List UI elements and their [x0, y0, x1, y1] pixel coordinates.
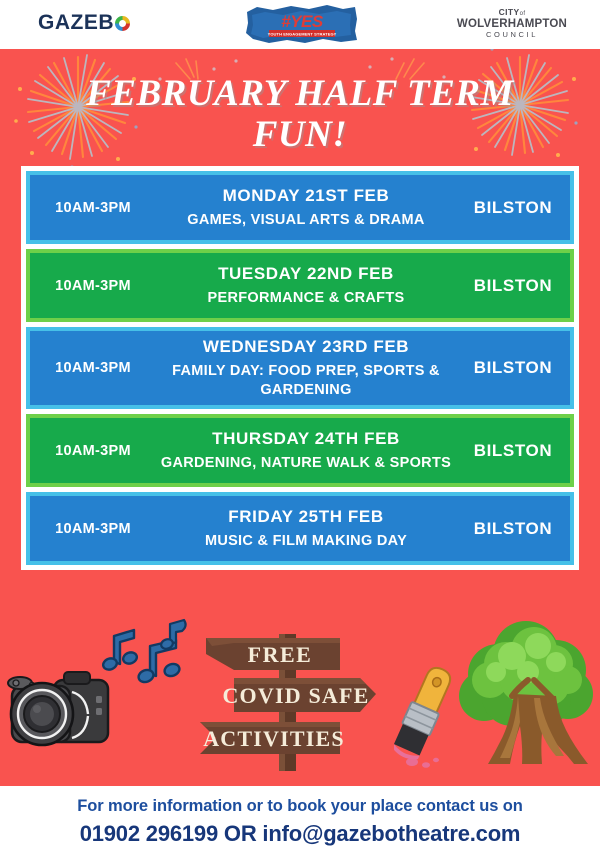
row-desc: MUSIC & FILM MAKING DAY: [156, 532, 456, 551]
sign-activities: ACTIVITIES: [200, 722, 345, 754]
row-venue: BILSTON: [460, 519, 566, 539]
signpost-icon: FREE COVID SAFE ACTIVITIES: [190, 626, 390, 771]
row-details: THURSDAY 24TH FEB GARDENING, NATURE WALK…: [152, 429, 460, 473]
row-time: 10AM-3PM: [34, 521, 152, 537]
row-day: FRIDAY 25TH FEB: [156, 507, 456, 527]
row-time: 10AM-3PM: [34, 360, 152, 376]
yes-logo-icon: #YES YOUTH ENGAGEMENT STRATEGY: [243, 3, 361, 45]
gazebo-logo-text: GAZEB: [38, 11, 114, 35]
svg-text:COVID SAFE: COVID SAFE: [222, 683, 369, 708]
table-row[interactable]: 10AM-3PM TUESDAY 22ND FEB PERFORMANCE & …: [26, 249, 574, 322]
row-details: TUESDAY 22ND FEB PERFORMANCE & CRAFTS: [152, 264, 460, 308]
tree-illustration: [450, 618, 600, 784]
row-desc: GARDENING, NATURE WALK & SPORTS: [156, 454, 456, 473]
poster-title: FEBRUARY HALF TERM FUN!: [0, 73, 600, 156]
table-row[interactable]: 10AM-3PM FRIDAY 25TH FEB MUSIC & FILM MA…: [26, 492, 574, 565]
svg-text:#YES: #YES: [281, 12, 324, 31]
row-venue: BILSTON: [460, 276, 566, 296]
row-time: 10AM-3PM: [34, 443, 152, 459]
council-line-1: CITYof: [452, 8, 572, 18]
footer-line-1: For more information or to book your pla…: [0, 797, 600, 816]
table-row[interactable]: 10AM-3PM WEDNESDAY 23RD FEB FAMILY DAY: …: [26, 327, 574, 409]
row-details: MONDAY 21ST FEB GAMES, VISUAL ARTS & DRA…: [152, 186, 460, 230]
signpost-illustration: FREE COVID SAFE ACTIVITIES: [190, 626, 390, 771]
music-note-icon: [100, 616, 190, 696]
title-line-1: FEBRUARY HALF TERM: [0, 73, 600, 114]
poster: GAZEB #YES YOUTH ENGAGEMENT STRATEGY CIT…: [0, 0, 600, 858]
council-logo: CITYof WOLVERHAMPTON COUNCIL: [452, 8, 572, 39]
gazebo-ring-icon: [115, 16, 130, 31]
svg-text:ACTIVITIES: ACTIVITIES: [203, 726, 345, 751]
footer-contact: For more information or to book your pla…: [0, 786, 600, 858]
row-day: THURSDAY 24TH FEB: [156, 429, 456, 449]
council-of: of: [520, 11, 526, 17]
row-time: 10AM-3PM: [34, 200, 152, 216]
row-desc: FAMILY DAY: FOOD PREP, SPORTS & GARDENIN…: [156, 362, 456, 399]
title-line-2: FUN!: [0, 114, 600, 155]
table-row[interactable]: 10AM-3PM MONDAY 21ST FEB GAMES, VISUAL A…: [26, 171, 574, 244]
row-desc: GAMES, VISUAL ARTS & DRAMA: [156, 211, 456, 230]
row-desc: PERFORMANCE & CRAFTS: [156, 289, 456, 308]
row-venue: BILSTON: [460, 358, 566, 378]
schedule-table: 10AM-3PM MONDAY 21ST FEB GAMES, VISUAL A…: [21, 166, 579, 570]
logo-bar: GAZEB #YES YOUTH ENGAGEMENT STRATEGY CIT…: [0, 0, 600, 49]
music-notes-illustration: [100, 616, 190, 696]
svg-text:FREE: FREE: [248, 642, 313, 667]
sign-free: FREE: [206, 638, 340, 670]
row-day: TUESDAY 22ND FEB: [156, 264, 456, 284]
table-row[interactable]: 10AM-3PM THURSDAY 24TH FEB GARDENING, NA…: [26, 414, 574, 487]
tree-icon: [450, 618, 600, 784]
row-time: 10AM-3PM: [34, 278, 152, 294]
row-day: MONDAY 21ST FEB: [156, 186, 456, 206]
gazebo-logo: GAZEB: [38, 11, 130, 35]
row-details: FRIDAY 25TH FEB MUSIC & FILM MAKING DAY: [152, 507, 460, 551]
row-details: WEDNESDAY 23RD FEB FAMILY DAY: FOOD PREP…: [152, 337, 460, 399]
yes-logo: #YES YOUTH ENGAGEMENT STRATEGY: [243, 3, 361, 45]
svg-text:YOUTH ENGAGEMENT STRATEGY: YOUTH ENGAGEMENT STRATEGY: [268, 32, 337, 37]
row-venue: BILSTON: [460, 198, 566, 218]
row-day: WEDNESDAY 23RD FEB: [156, 337, 456, 357]
illustration-strip: FREE COVID SAFE ACTIVITIES: [0, 614, 600, 786]
council-line-3: COUNCIL: [452, 31, 572, 39]
council-line-2: WOLVERHAMPTON: [452, 18, 572, 31]
row-venue: BILSTON: [460, 441, 566, 461]
sign-covid-safe: COVID SAFE: [222, 678, 376, 712]
poster-body: FEBRUARY HALF TERM FUN! 10AM-3PM MONDAY …: [0, 49, 600, 786]
footer-line-2: 01902 296199 OR info@gazebotheatre.com: [0, 821, 600, 847]
